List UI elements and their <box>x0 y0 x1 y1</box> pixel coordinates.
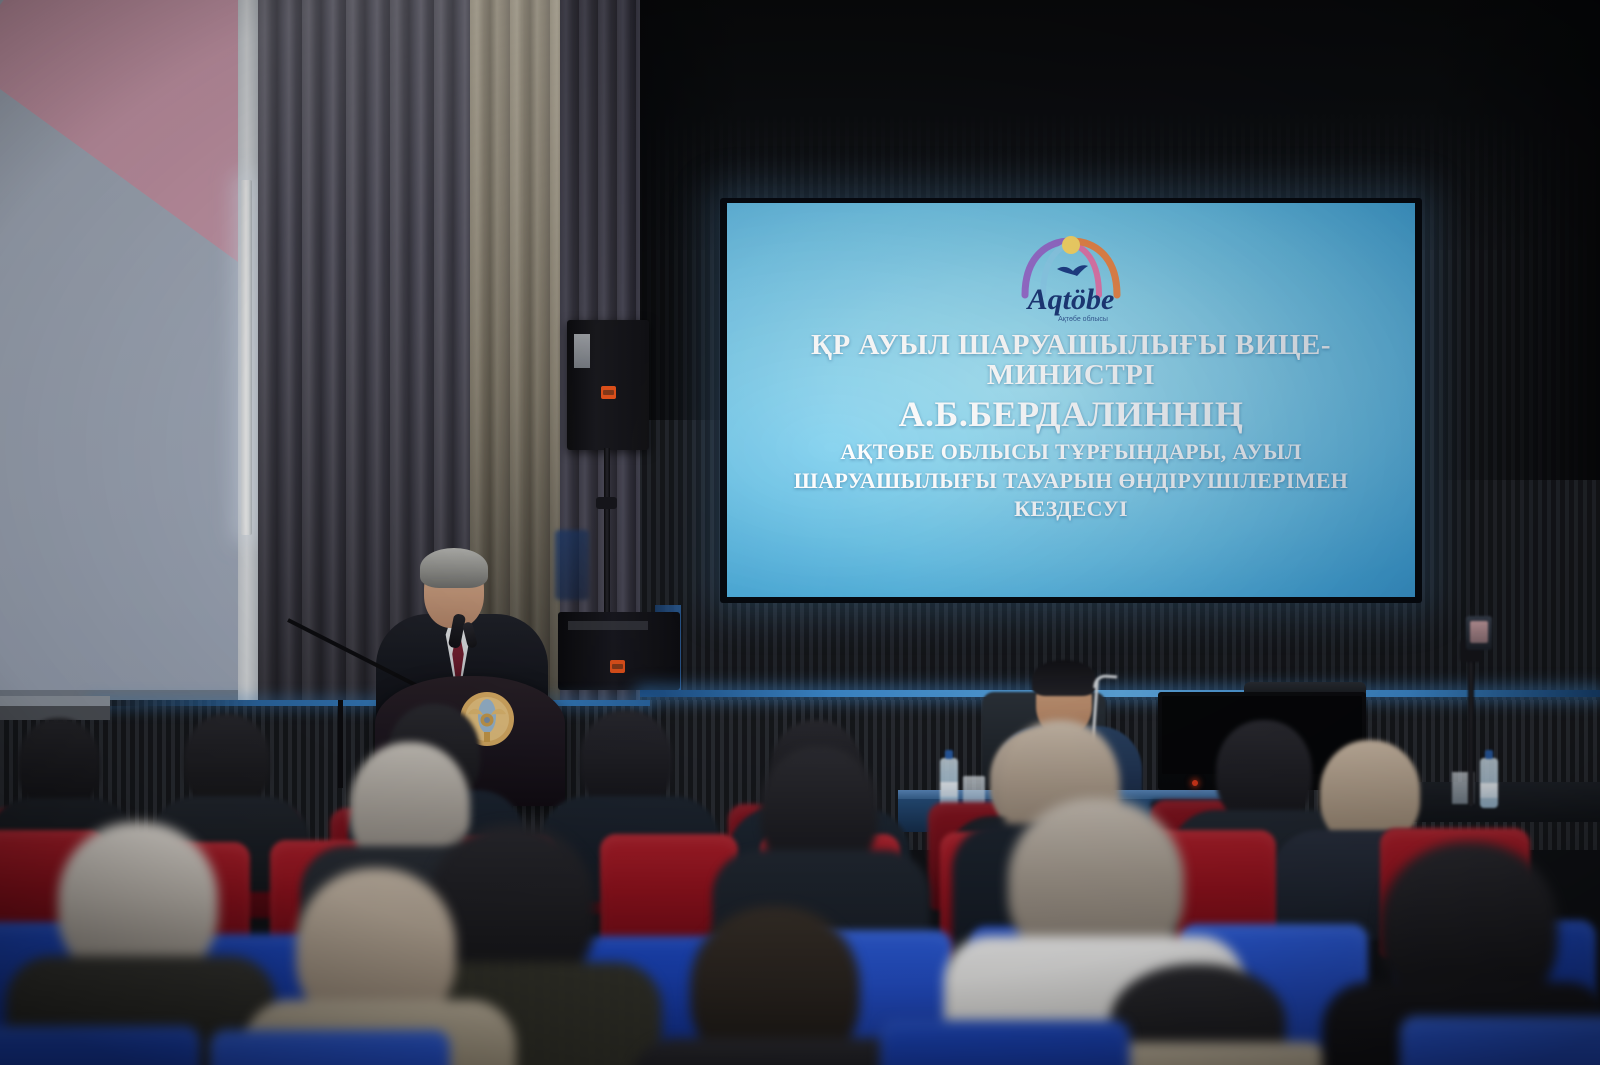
fluorescent-tube-light <box>241 180 252 535</box>
slide-line-1: ҚР АУЫЛ ШАРУАШЫЛЫҒЫ ВИЦЕ-МИНИСТРІ <box>727 330 1415 391</box>
presenter-hair <box>420 548 488 588</box>
jbl-logo-icon <box>610 660 625 673</box>
svg-text:Ақтөбе облысы: Ақтөбе облысы <box>1058 315 1108 323</box>
cable-bundle <box>555 530 589 600</box>
subwoofer-label-strip <box>568 621 648 630</box>
conference-hall-photo: Aqtöbe Ақтөбе облысы ҚР АУЫЛ ШАРУАШЫЛЫҒЫ… <box>0 0 1600 1065</box>
auditorium-seat[interactable] <box>210 1030 450 1065</box>
left-wall <box>0 0 250 700</box>
jbl-line-speaker <box>567 320 649 450</box>
aqtobe-logo: Aqtöbe Ақтөбе облысы <box>991 229 1151 324</box>
slide-line-3: АҚТӨБЕ ОБЛЫСЫ ТҰРҒЫНДАРЫ, АУЫЛ ШАРУАШЫЛЫ… <box>727 438 1415 522</box>
auditorium-seat[interactable] <box>880 1020 1130 1065</box>
slide-line-2: А.Б.БЕРДАЛИННІҢ <box>727 393 1415 435</box>
speaker-label-sticker <box>574 334 590 368</box>
speaker-stand <box>604 448 610 620</box>
svg-text:Aqtöbe: Aqtöbe <box>1026 283 1115 316</box>
speaker-stand-knob <box>596 497 617 509</box>
wall-right-shadow <box>1430 0 1600 480</box>
auditorium-seat[interactable] <box>0 1026 200 1065</box>
video-camera <box>1466 616 1492 650</box>
auditorium-seat[interactable] <box>1400 1016 1600 1065</box>
jbl-logo-icon <box>601 386 616 399</box>
audience-area <box>0 690 1600 1065</box>
jbl-subwoofer <box>558 612 680 690</box>
camera-screen <box>1470 621 1488 643</box>
presentation-screen: Aqtöbe Ақтөбе облысы ҚР АУЫЛ ШАРУАШЫЛЫҒЫ… <box>727 203 1415 597</box>
